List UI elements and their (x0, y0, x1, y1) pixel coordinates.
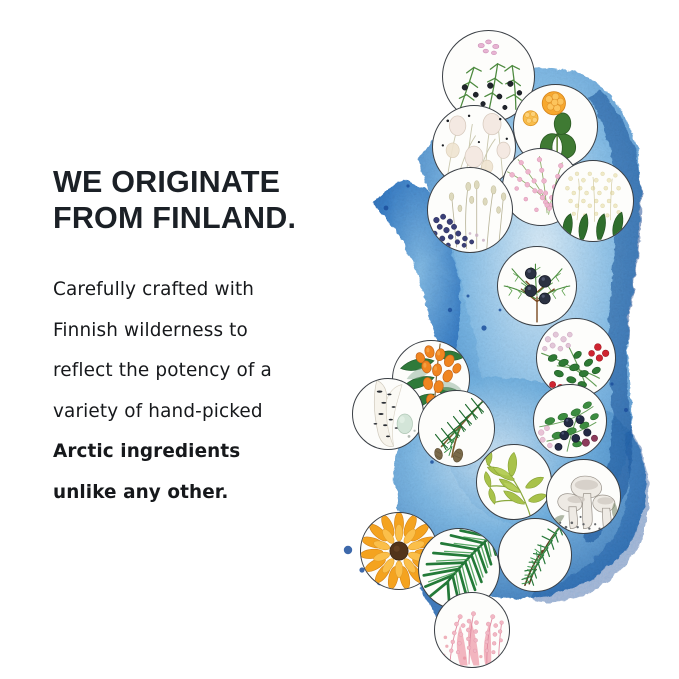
body-line-1: Carefully crafted with (53, 279, 254, 300)
medallion-juniper (497, 246, 577, 326)
fireweed-illustration (435, 593, 509, 667)
body-line-5-emphasis: Arctic ingredients (53, 441, 240, 462)
medallion-bilberry-bog (533, 384, 607, 458)
pine-illustration (419, 391, 494, 466)
paint-splatter (384, 206, 389, 211)
paint-splatter (499, 309, 502, 312)
meadowsweet-illustration (553, 161, 633, 241)
finland-map-illustration (300, 10, 679, 679)
body-line-2: Finnish wilderness to (53, 320, 248, 341)
fir-illustration (499, 519, 571, 591)
paint-splatter (344, 546, 352, 554)
paint-splatter (448, 308, 452, 312)
medallion-rowan-leaf (476, 444, 552, 520)
paint-splatter (481, 325, 486, 330)
body-line-3: reflect the potency of a (53, 360, 272, 381)
bogbilberry-illustration (534, 385, 606, 457)
medallion-pine-branch (418, 390, 495, 467)
paint-splatter (467, 295, 470, 298)
body-line-4: variety of hand-picked (53, 401, 263, 422)
medallion-birch-bark (352, 378, 424, 450)
paint-splatter (624, 408, 628, 412)
body-line-6-emphasis: unlike any other. (53, 482, 228, 503)
mushroom-illustration (547, 460, 620, 533)
medallion-fireweed (434, 592, 510, 668)
paint-splatter (406, 184, 409, 187)
medallion-meadowsweet (552, 160, 634, 242)
paint-splatter (430, 460, 434, 464)
poster-canvas: WE ORIGINATE FROM FINLAND. Carefully cra… (0, 0, 679, 679)
birchbark-illustration (353, 379, 423, 449)
medallion-mushrooms (546, 459, 621, 534)
juniper-illustration (498, 247, 576, 325)
rowan-illustration (477, 445, 551, 519)
oatbilberry-illustration (428, 168, 512, 252)
medallion-oat-bilberry (427, 167, 513, 253)
medallion-fir-sprig (498, 518, 572, 592)
paint-splatter (610, 382, 613, 385)
